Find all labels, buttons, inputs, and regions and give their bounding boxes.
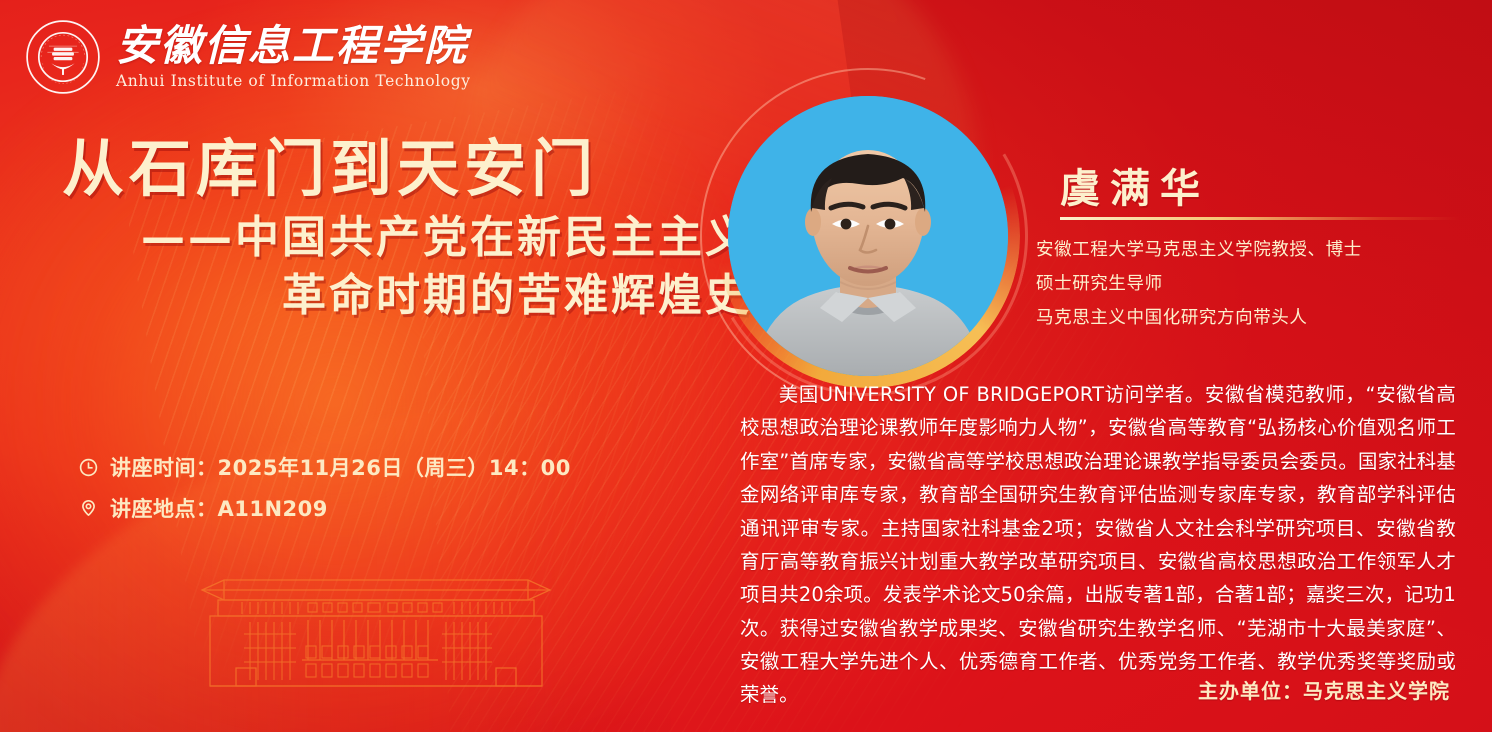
great-hall-building-line-art-icon [196,568,556,698]
speaker-bio-paragraph: 美国UNIVERSITY OF BRIDGEPORT访问学者。安徽省模范教师，“… [740,378,1456,712]
lecture-meta: 讲座时间：2025年11月26日（周三）14：00 讲座地点：A11N209 [78,452,571,534]
lecture-time-text: 讲座时间：2025年11月26日（周三）14：00 [110,452,571,482]
speaker-title-line-1: 安徽工程大学马克思主义学院教授、博士 [1036,233,1466,267]
speaker-titles: 安徽工程大学马克思主义学院教授、博士 硕士研究生导师 马克思主义中国化研究方向带… [1036,233,1466,335]
title-subtitle: ——中国共产党在新民主主义 革命时期的苦难辉煌史 [62,209,752,325]
institution-name-cn: 安徽信息工程学院 [116,25,471,67]
organizer-footer: 主办单位：马克思主义学院 [1198,675,1450,704]
clock-icon [78,457,99,478]
speaker-portrait-photo [728,96,1008,376]
lecture-location-row: 讲座地点：A11N209 [78,493,571,523]
title-sub-line-1: ——中国共产党在新民主主义 [62,209,752,267]
institution-logo: 安徽信息工程学院 Anhui Institute of Information … [24,18,471,96]
speaker-title-line-3: 马克思主义中国化研究方向带头人 [1036,301,1466,335]
speaker-title-line-2: 硕士研究生导师 [1036,267,1466,301]
lecture-location-text: 讲座地点：A11N209 [110,493,328,523]
lecture-poster: 安徽信息工程学院 Anhui Institute of Information … [0,0,1492,732]
title-main-line: 从石库门到天安门 [62,136,752,203]
speaker-name-divider [1060,217,1460,220]
speaker-portrait [716,84,1020,388]
location-pin-icon [78,498,99,519]
speaker-name: 虞满华 [1060,156,1210,214]
institution-name-en: Anhui Institute of Information Technolog… [116,74,471,90]
university-seal-icon [24,18,102,96]
poster-title: 从石库门到天安门 ——中国共产党在新民主主义 革命时期的苦难辉煌史 [62,136,752,325]
title-sub-line-2: 革命时期的苦难辉煌史 [62,267,752,325]
lecture-time-row: 讲座时间：2025年11月26日（周三）14：00 [78,452,571,482]
